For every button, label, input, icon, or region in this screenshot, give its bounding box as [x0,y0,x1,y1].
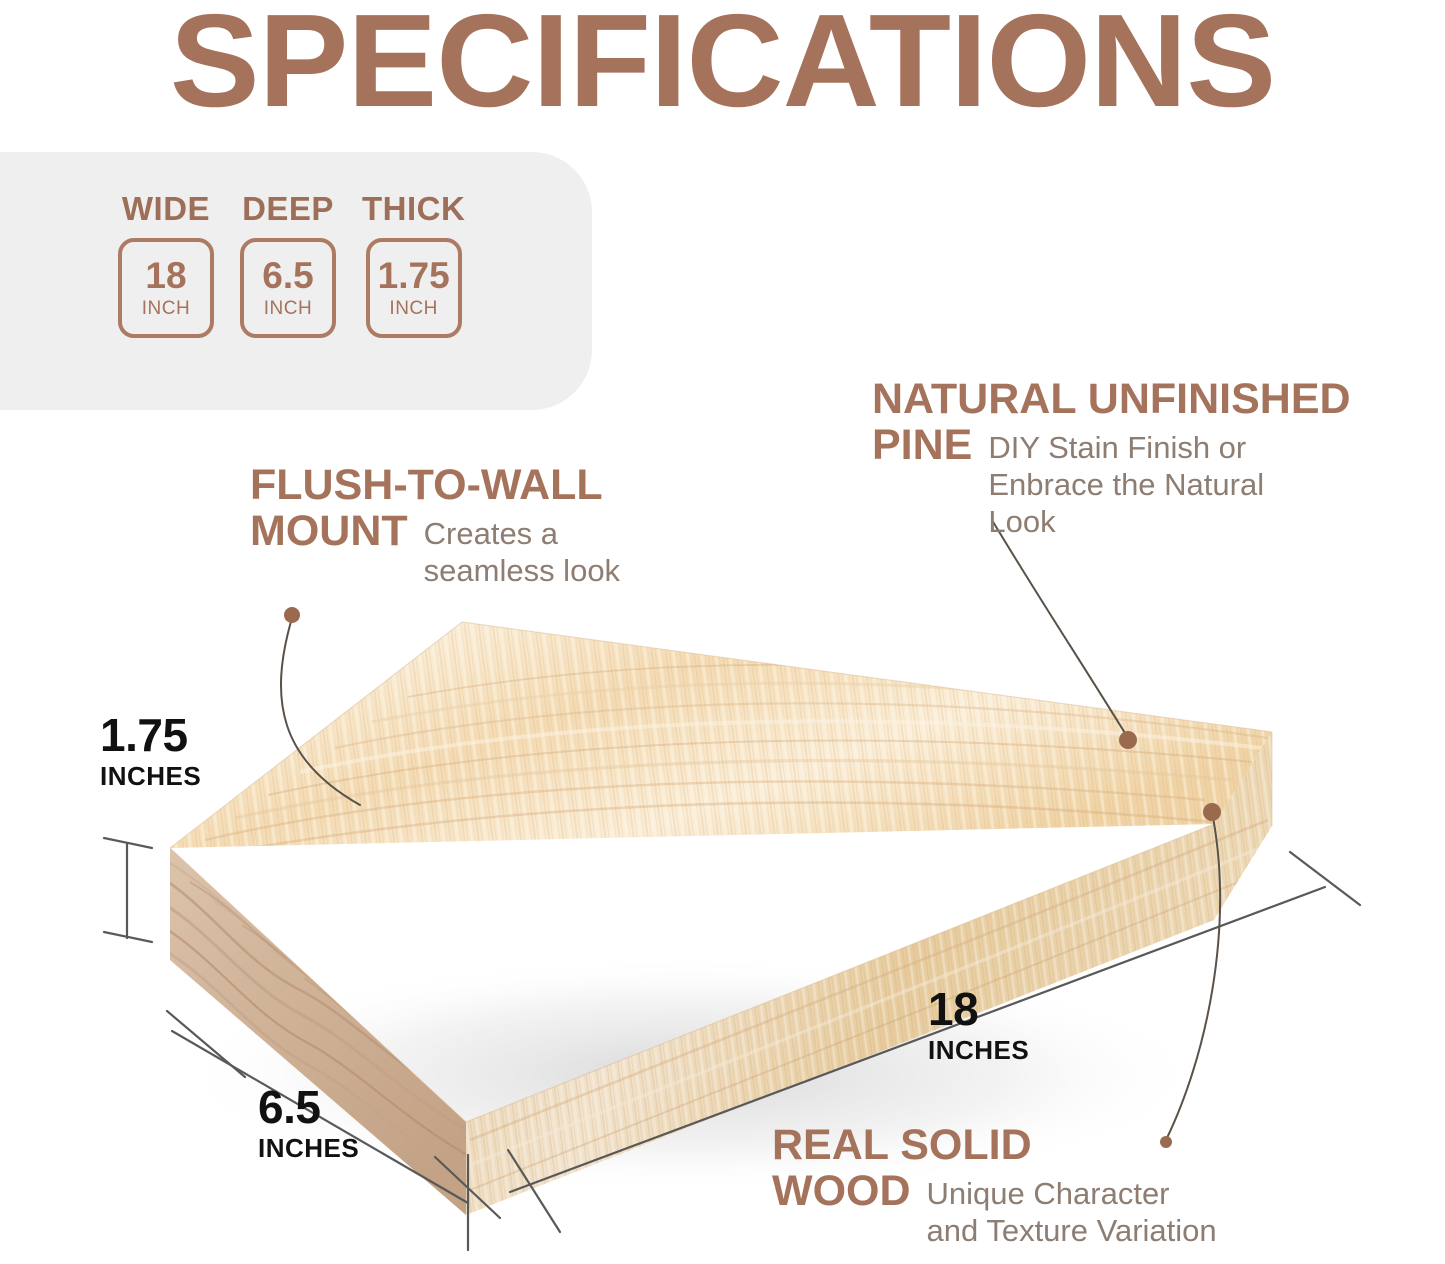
feature-real-solid-wood: REAL SOLID WOOD Unique Character and Tex… [772,1122,1392,1250]
feature-pine-head-line2: PINE [872,422,972,468]
dimension-unit-width: INCHES [928,1037,1029,1063]
dimension-label-depth: 6.5 INCHES [258,1084,359,1161]
block-top-face [100,580,1350,880]
feature-pine-desc-line1: DIY Stain Finish or [988,430,1264,467]
feature-natural-pine: NATURAL UNFINISHED PINE DIY Stain Finish… [872,376,1444,540]
feature-solid-desc-line1: Unique Character [927,1176,1217,1213]
feature-pine-desc-line3: Look [988,504,1264,541]
dimension-unit-depth: INCHES [258,1135,359,1161]
feature-flush-desc: Creates a seamless look [424,508,620,589]
feature-pine-desc-line2: Enbrace the Natural [988,467,1264,504]
wood-block-illustration [0,0,1445,1264]
feature-solid-desc-line2: and Texture Variation [927,1213,1217,1250]
leader-dot-pine [1119,731,1137,749]
feature-flush-desc-line2: seamless look [424,553,620,590]
dimension-value-width: 18 [928,986,1029,1032]
dimension-value-depth: 6.5 [258,1084,359,1130]
dimension-unit-thickness: INCHES [100,763,201,789]
feature-pine-desc: DIY Stain Finish or Enbrace the Natural … [988,422,1264,540]
feature-solid-head-line2: WOOD [772,1168,911,1214]
feature-flush-desc-line1: Creates a [424,516,620,553]
feature-flush-to-wall: FLUSH-TO-WALL MOUNT Creates a seamless l… [250,462,770,590]
feature-flush-head-line1: FLUSH-TO-WALL [250,462,770,508]
leader-dot-flush [284,607,300,623]
feature-pine-head-line1: NATURAL UNFINISHED [872,376,1444,422]
feature-solid-desc: Unique Character and Texture Variation [927,1168,1217,1249]
dimension-value-thickness: 1.75 [100,712,201,758]
dimension-label-thickness: 1.75 INCHES [100,712,201,789]
dimension-line-thickness [104,838,152,942]
feature-solid-head-line1: REAL SOLID [772,1122,1392,1168]
leader-dot-solid [1203,803,1221,821]
infographic-canvas: SPECIFICATIONS WIDE 18 INCH DEEP 6.5 INC… [0,0,1445,1264]
dimension-label-width: 18 INCHES [928,986,1029,1063]
feature-flush-head-line2: MOUNT [250,508,408,554]
